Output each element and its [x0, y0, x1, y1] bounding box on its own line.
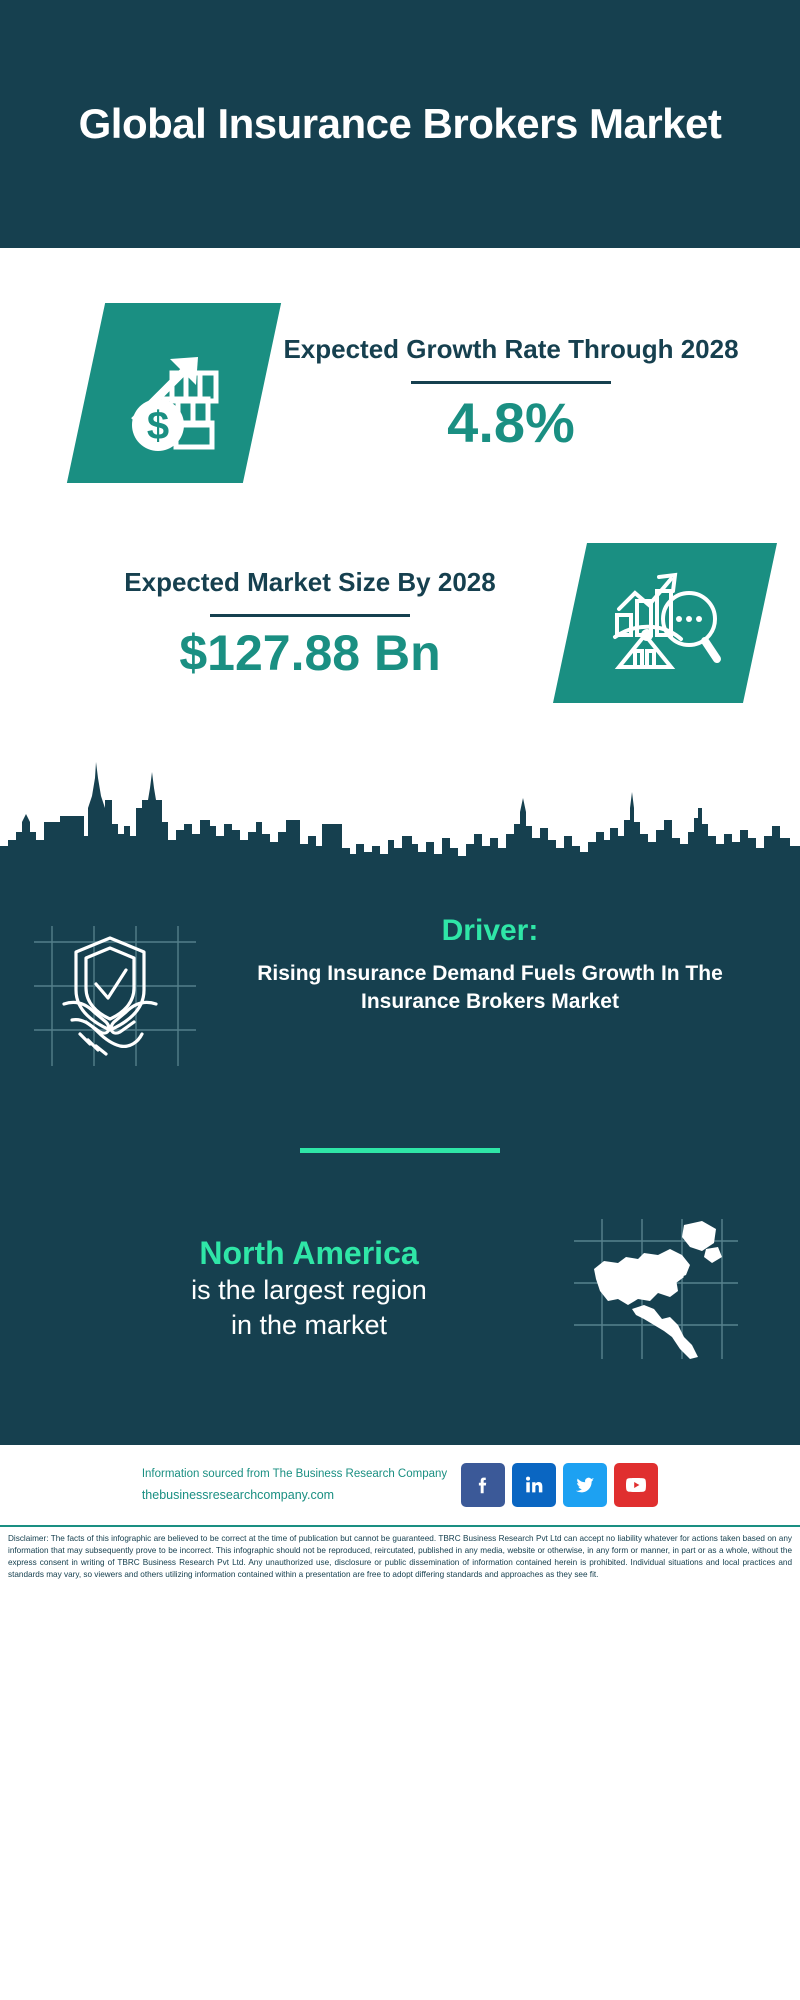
dark-bottom-spacer: [0, 1363, 800, 1443]
chart-magnifier-icon: [605, 563, 725, 683]
region-text-block: North America is the largest region in t…: [24, 1233, 566, 1343]
city-skyline-silhouette: [0, 748, 800, 878]
source-text-block: Information sourced from The Business Re…: [142, 1465, 447, 1505]
growth-rate-row: $ Expected Growth Rate Through 2028 4.8%: [0, 248, 800, 508]
market-size-icon-shape: [553, 543, 777, 703]
driver-text-block: Driver: Rising Insurance Demand Fuels Gr…: [214, 908, 776, 1016]
shield-handshake-icon: [24, 908, 214, 1078]
driver-heading: Driver:: [220, 914, 760, 948]
driver-body-text: Rising Insurance Demand Fuels Growth In …: [220, 960, 760, 1016]
twitter-icon[interactable]: [563, 1463, 607, 1507]
region-line-1: is the largest region: [52, 1273, 566, 1308]
facebook-icon[interactable]: [461, 1463, 505, 1507]
svg-text:$: $: [147, 404, 169, 448]
region-block: North America is the largest region in t…: [0, 1153, 800, 1363]
disclaimer-text: Disclaimer: The facts of this infographi…: [0, 1525, 800, 1581]
north-america-map-icon: [566, 1213, 746, 1363]
dark-content-section: Driver: Rising Insurance Demand Fuels Gr…: [0, 878, 800, 1443]
market-size-text-block: Expected Market Size By 2028 $127.88 Bn: [40, 566, 570, 679]
growth-text-block: Expected Growth Rate Through 2028 4.8%: [262, 333, 760, 453]
source-bar: Information sourced from The Business Re…: [0, 1443, 800, 1525]
market-size-row: Expected Market Size By 2028 $127.88 Bn: [0, 508, 800, 738]
source-attribution: Information sourced from The Business Re…: [142, 1465, 447, 1485]
arrow-up-money-icon: $: [114, 333, 234, 453]
page-title: Global Insurance Brokers Market: [79, 99, 722, 149]
growth-icon-shape: $: [67, 303, 281, 483]
region-name: North America: [52, 1233, 566, 1273]
driver-block: Driver: Rising Insurance Demand Fuels Gr…: [0, 894, 800, 1078]
divider-rule: [210, 614, 410, 617]
stats-section: $ Expected Growth Rate Through 2028 4.8%…: [0, 248, 800, 878]
social-links: [461, 1463, 658, 1507]
youtube-icon[interactable]: [614, 1463, 658, 1507]
growth-rate-value: 4.8%: [262, 394, 760, 453]
linkedin-icon[interactable]: [512, 1463, 556, 1507]
market-size-label: Expected Market Size By 2028: [50, 566, 570, 600]
header-banner: Global Insurance Brokers Market: [0, 0, 800, 248]
growth-rate-label: Expected Growth Rate Through 2028: [262, 333, 760, 367]
source-website[interactable]: thebusinessresearchcompany.com: [142, 1485, 447, 1505]
infographic-page: Global Insurance Brokers Market: [0, 0, 800, 2000]
market-size-value: $127.88 Bn: [50, 627, 570, 680]
region-line-2: in the market: [52, 1308, 566, 1343]
divider-rule: [411, 381, 611, 384]
